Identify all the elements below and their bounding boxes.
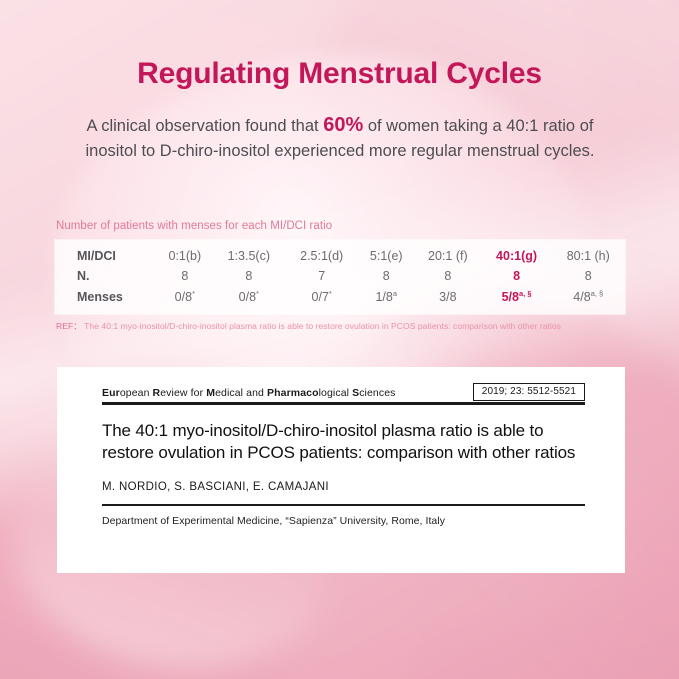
cell-ratio-6: 80:1 (h) <box>551 240 625 266</box>
intro-paragraph: A clinical observation found that 60% of… <box>78 113 602 164</box>
cell-ratio-2: 2.5:1(d) <box>285 240 358 266</box>
cell-ratio-0: 0:1(b) <box>157 240 213 266</box>
table-row-n: N. 8 8 7 8 8 8 8 <box>55 266 625 286</box>
reference-label: REF： <box>56 321 82 331</box>
cell-menses-4: 3/8 <box>414 286 482 314</box>
row-label-ratio: MI/DCI <box>55 240 157 266</box>
row-label-menses: Menses <box>55 286 157 314</box>
cell-menses-sup-3: a <box>393 289 397 298</box>
table-row-ratio: MI/DCI 0:1(b) 1:3.5(c) 2.5:1(d) 5:1(e) 2… <box>55 240 625 266</box>
table-body: MI/DCI 0:1(b) 1:3.5(c) 2.5:1(d) 5:1(e) 2… <box>55 240 625 314</box>
cell-menses-3: 1/8a <box>358 286 414 314</box>
journal-header-row: European Review for Medical and Pharmaco… <box>102 383 585 401</box>
paper-title: The 40:1 myo-inositol/D-chiro-inositol p… <box>102 420 585 464</box>
table-caption: Number of patients with menses for each … <box>56 220 332 232</box>
journal-rule <box>102 402 585 405</box>
paper-screenshot-card: European Review for Medical and Pharmaco… <box>57 367 625 573</box>
cell-n-0: 8 <box>157 266 213 286</box>
cell-ratio-1: 1:3.5(c) <box>213 240 285 266</box>
cell-n-2: 7 <box>285 266 358 286</box>
cell-menses-sup-1: * <box>256 289 259 298</box>
cell-menses-sup-0: * <box>192 289 195 298</box>
paper-affiliation: Department of Experimental Medicine, “Sa… <box>102 515 585 527</box>
page-title: Regulating Menstrual Cycles <box>0 57 679 91</box>
cell-n-5: 8 <box>482 266 552 286</box>
journal-issue-box: 2019; 23: 5512-5521 <box>473 383 585 401</box>
cell-menses-sup-6: a, § <box>591 289 604 298</box>
cell-menses-2: 0/7* <box>285 286 358 314</box>
cell-ratio-3: 5:1(e) <box>358 240 414 266</box>
table-row-menses: Menses 0/8* 0/8* 0/7* 1/8a 3/8 5/8a, § 4… <box>55 286 625 314</box>
cell-menses-0: 0/8* <box>157 286 213 314</box>
cell-n-3: 8 <box>358 266 414 286</box>
cell-menses-1: 0/8* <box>213 286 285 314</box>
cell-n-1: 8 <box>213 266 285 286</box>
cell-menses-5: 5/8a, § <box>482 286 552 314</box>
row-label-n: N. <box>55 266 157 286</box>
authors-rule <box>102 504 585 506</box>
menses-data-table: MI/DCI 0:1(b) 1:3.5(c) 2.5:1(d) 5:1(e) 2… <box>55 240 625 314</box>
cell-menses-sup-5: a, § <box>519 289 532 298</box>
cell-ratio-4: 20:1 (f) <box>414 240 482 266</box>
reference-line: REF： The 40:1 myo-inositol/D-chiro-inosi… <box>56 320 561 332</box>
paper-authors: M. NORDIO, S. BASCIANI, E. CAMAJANI <box>102 481 585 493</box>
intro-highlight-percent: 60% <box>323 114 363 136</box>
cell-n-6: 8 <box>551 266 625 286</box>
intro-text-before: A clinical observation found that <box>87 117 324 135</box>
cell-n-4: 8 <box>414 266 482 286</box>
cell-ratio-5: 40:1(g) <box>482 240 552 266</box>
reference-text: The 40:1 myo-inositol/D-chiro-inositol p… <box>84 321 561 331</box>
journal-name: European Review for Medical and Pharmaco… <box>102 387 396 401</box>
cell-menses-6: 4/8a, § <box>551 286 625 314</box>
cell-menses-sup-2: * <box>329 289 332 298</box>
